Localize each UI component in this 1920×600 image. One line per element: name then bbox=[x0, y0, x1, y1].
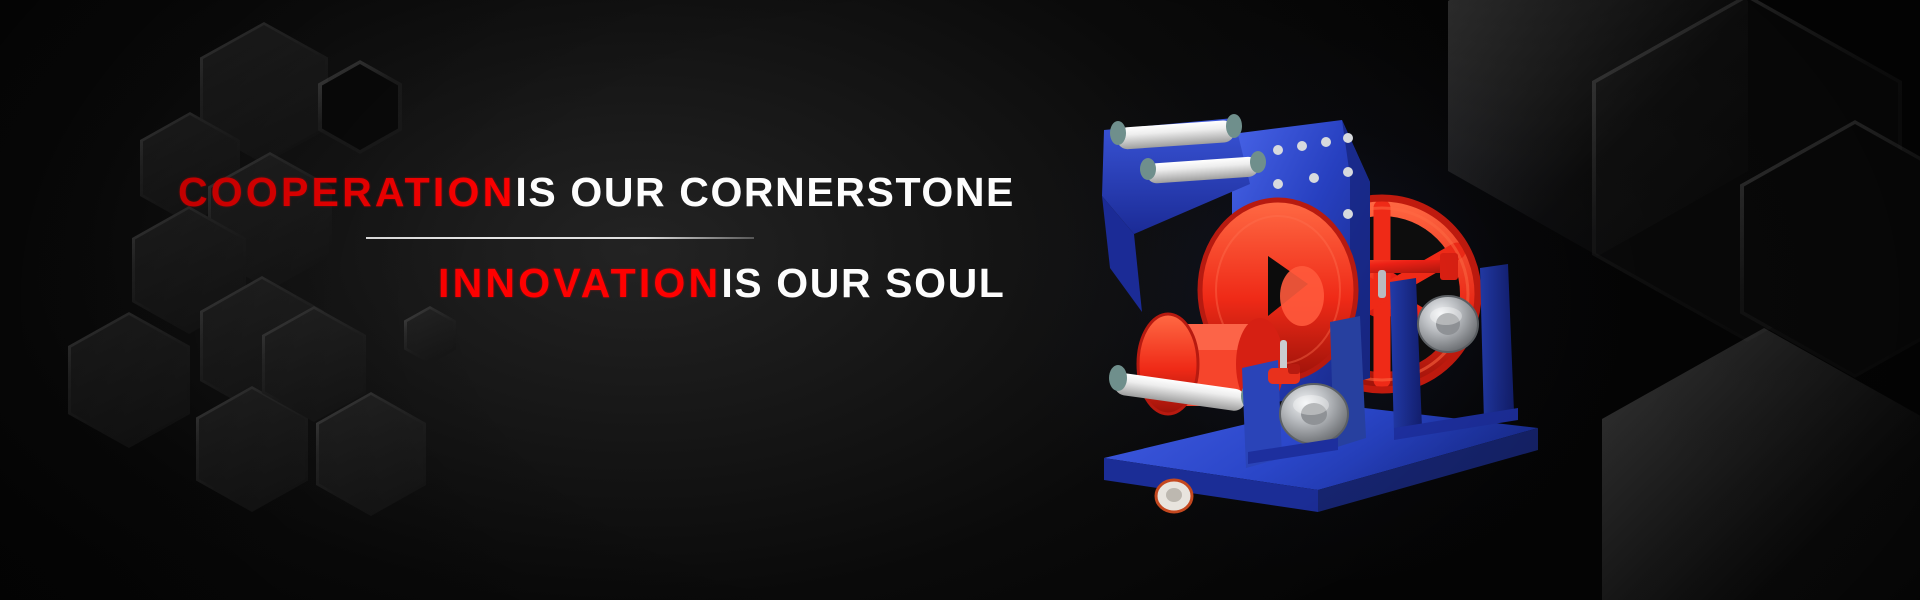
hexagon-decor-outline bbox=[1740, 120, 1920, 378]
hexagon-decor-outline bbox=[1592, 0, 1902, 342]
hexagon-decor bbox=[262, 306, 366, 422]
hexagon-decor bbox=[404, 306, 456, 364]
headline-line-2-wrap: INNOVATIONIS OUR SOUL bbox=[178, 263, 978, 304]
headline-divider bbox=[366, 237, 754, 239]
headline-plain-cornerstone: IS OUR CORNERSTONE bbox=[515, 169, 1015, 215]
headline-block: COOPERATIONIS OUR CORNERSTONE INNOVATION… bbox=[178, 172, 978, 304]
headline-line-1: COOPERATIONIS OUR CORNERSTONE bbox=[178, 172, 978, 213]
hexagon-glass-decor bbox=[1602, 328, 1920, 600]
hexagon-decor bbox=[68, 312, 190, 448]
hexagon-decor-outline bbox=[318, 60, 402, 154]
headline-accent-innovation: INNOVATION bbox=[438, 260, 721, 306]
headline-plain-soul: IS OUR SOUL bbox=[721, 260, 1005, 306]
headline-accent-cooperation: COOPERATION bbox=[178, 169, 515, 215]
hexagon-decor bbox=[196, 386, 308, 512]
product-image-cable-winding-machine bbox=[1082, 72, 1562, 542]
hero-banner: COOPERATIONIS OUR CORNERSTONE INNOVATION… bbox=[0, 0, 1920, 600]
hexagon-decor bbox=[316, 392, 426, 516]
headline-line-2: INNOVATIONIS OUR SOUL bbox=[438, 263, 978, 304]
hexagon-decor bbox=[200, 22, 328, 164]
